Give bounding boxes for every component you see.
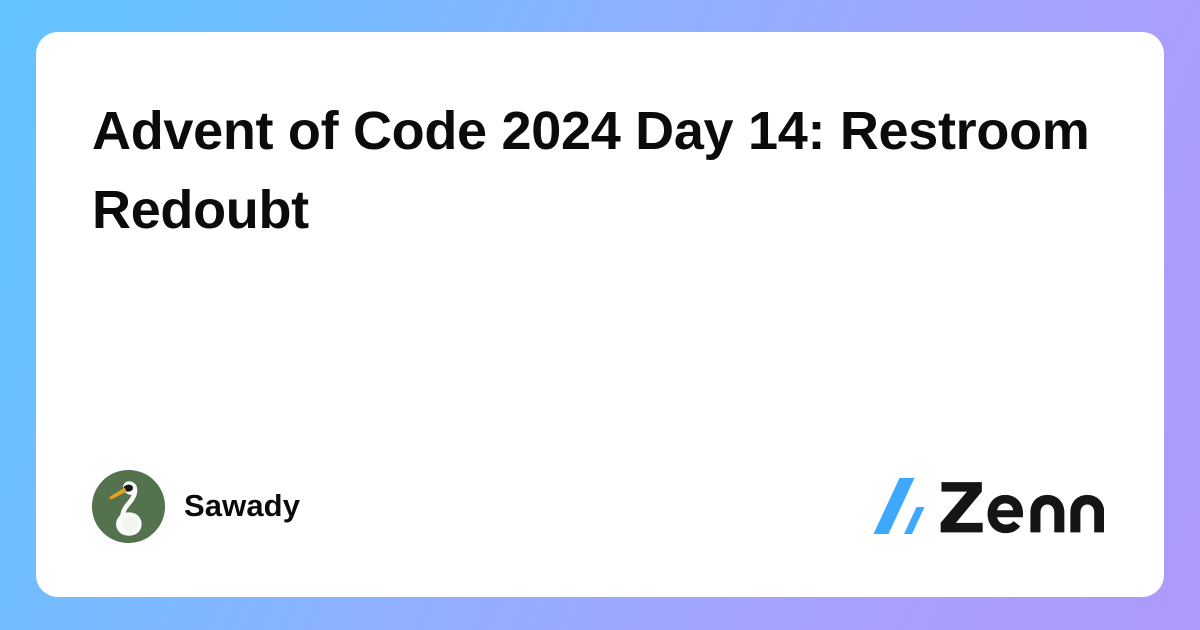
og-image-card: Advent of Code 2024 Day 14: Restroom Red… xyxy=(0,0,1200,630)
author-block: Sawady xyxy=(92,470,300,543)
author-name: Sawady xyxy=(184,488,300,524)
zenn-slash-mark-icon xyxy=(873,477,925,535)
article-card-surface: Advent of Code 2024 Day 14: Restroom Red… xyxy=(36,32,1164,597)
title-block: Advent of Code 2024 Day 14: Restroom Red… xyxy=(92,92,1092,251)
zenn-wordmark-icon xyxy=(939,478,1104,534)
page-title: Advent of Code 2024 Day 14: Restroom Red… xyxy=(92,92,1092,251)
avatar xyxy=(92,470,165,543)
zenn-logo xyxy=(873,477,1108,535)
swan-avatar-icon xyxy=(92,470,165,543)
card-footer: Sawady xyxy=(92,467,1108,545)
